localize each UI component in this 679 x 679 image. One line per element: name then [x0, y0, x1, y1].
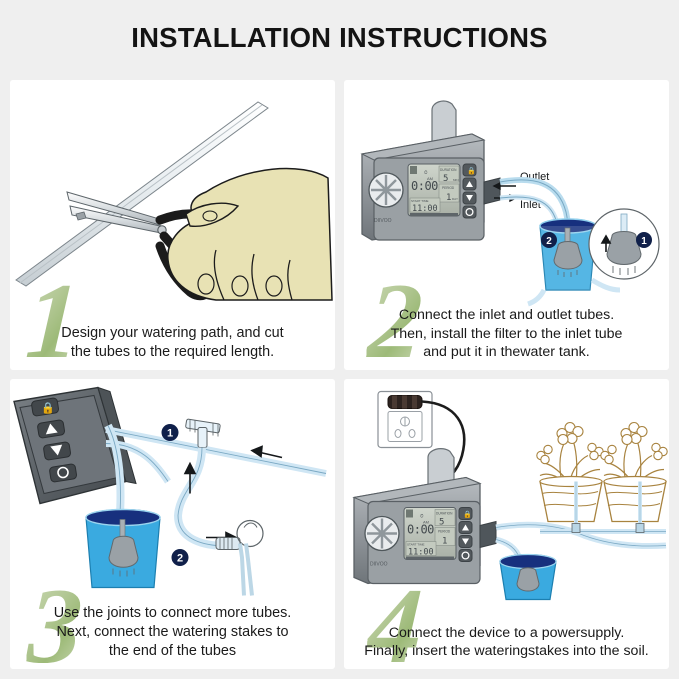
- watering-stake: [216, 521, 263, 596]
- svg-text:1: 1: [641, 236, 647, 247]
- step-panel-1: 1 Design your watering path, and cut the…: [10, 80, 335, 370]
- svg-text:MIN: MIN: [453, 178, 459, 182]
- potted-plant: [537, 423, 603, 533]
- svg-text:🔒: 🔒: [467, 167, 476, 175]
- hand: [168, 169, 332, 300]
- svg-text:PERIOD: PERIOD: [438, 530, 451, 534]
- svg-text:DAY: DAY: [452, 197, 458, 201]
- svg-text:DURATION: DURATION: [440, 168, 457, 172]
- installation-instructions-page: INSTALLATION INSTRUCTIONS: [0, 0, 679, 679]
- svg-text:5: 5: [439, 518, 444, 528]
- badge-2: 2: [172, 549, 189, 566]
- step-4-caption: Connect the device to a powersupply. Fin…: [344, 624, 669, 661]
- svg-text:0:00: 0:00: [407, 523, 434, 537]
- svg-text:PERIOD: PERIOD: [442, 186, 455, 190]
- step-panel-2: DIIVOO ⏱ AM 0:00 DURATION 5 MIN PERIOD: [344, 80, 669, 370]
- svg-text:1: 1: [167, 428, 173, 440]
- stake-tube: [178, 448, 216, 546]
- step-2-caption: Connect the inlet and outlet tubes. Then…: [344, 306, 669, 362]
- water-bucket: 2: [540, 219, 596, 290]
- svg-text:5: 5: [443, 174, 448, 184]
- svg-text:11:00: 11:00: [408, 548, 434, 558]
- power-plug: [388, 396, 422, 409]
- step-panel-3: 🔒: [10, 379, 335, 669]
- svg-text:2: 2: [546, 236, 552, 247]
- potted-plant: [601, 423, 667, 533]
- badge-1: 1: [636, 232, 652, 248]
- main-tube: [106, 430, 326, 482]
- svg-text:START TIME: START TIME: [407, 543, 424, 547]
- svg-text:DIIVOO: DIIVOO: [374, 218, 392, 224]
- svg-text:1: 1: [446, 193, 451, 203]
- water-bucket: [86, 510, 160, 588]
- svg-text:START TIME: START TIME: [411, 199, 428, 203]
- step-panel-4: DIIVOO ⏱ AM 0:00 DURATION 5 PERIOD 1 S: [344, 379, 669, 669]
- svg-text:11:00: 11:00: [412, 204, 438, 214]
- page-title: INSTALLATION INSTRUCTIONS: [0, 22, 679, 54]
- svg-text:1: 1: [442, 537, 447, 547]
- svg-text:⏱: ⏱: [424, 170, 428, 175]
- svg-text:DURATION: DURATION: [436, 512, 453, 516]
- svg-text:🔒: 🔒: [41, 402, 55, 415]
- svg-text:🔒: 🔒: [463, 511, 472, 519]
- detail-circle: 1: [589, 209, 659, 279]
- water-bucket: [500, 555, 556, 600]
- badge-2: 2: [541, 232, 557, 248]
- svg-text:2: 2: [177, 553, 183, 565]
- step-3-caption: Use the joints to connect more tubes. Ne…: [10, 604, 335, 661]
- svg-text:0:00: 0:00: [411, 179, 438, 193]
- tube-direction-arrow: [252, 447, 282, 458]
- steps-grid: 1 Design your watering path, and cut the…: [10, 80, 669, 669]
- step-1-caption: Design your watering path, and cut the t…: [10, 324, 335, 362]
- svg-text:⏱: ⏱: [420, 514, 424, 519]
- badge-1: 1: [162, 424, 179, 441]
- timer-device: DIIVOO ⏱ AM 0:00 DURATION 5 MIN PERIOD: [362, 134, 500, 240]
